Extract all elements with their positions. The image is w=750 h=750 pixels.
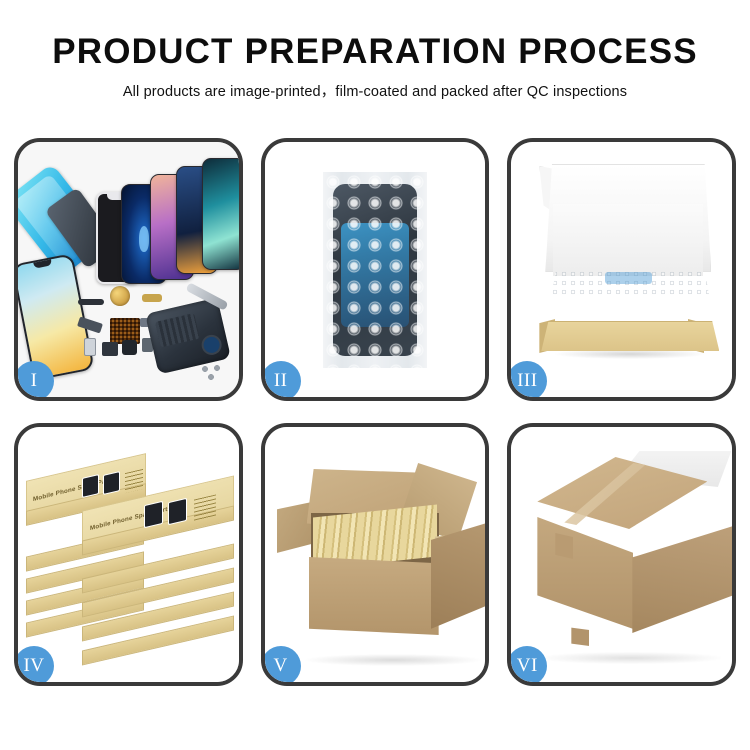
retail-box-screen-art-2 [103,471,120,495]
phone-internal-board [145,297,231,374]
step-panel-5[interactable]: V [261,423,490,686]
retail-box-spec-lines [125,469,143,493]
small-component-part-1 [84,338,96,356]
step-panel-6[interactable]: VI [507,423,736,686]
sealed-carton-front [537,517,633,629]
small-component-part-2 [102,342,118,356]
page-title: PRODUCT PREPARATION PROCESS [0,34,750,71]
retail-box-front-top: Mobile Phone Spare Parts [82,493,234,549]
retail-box-stack: Mobile Phone Spare Parts [24,443,239,643]
step-5-image [265,427,486,682]
step-panel-1[interactable]: I [14,138,243,401]
step-badge-4: IV [14,646,54,686]
step-panel-3[interactable]: III [507,138,736,401]
vibration-motor-part [110,286,130,306]
wrapped-product-in-box [551,270,709,296]
phone-screen-teal-wave [202,158,239,270]
flex-cable-part-2 [142,294,162,302]
step-1-image [18,142,239,397]
sealed-carton-side [632,525,732,633]
retail-box-screen-art-1 [144,501,163,528]
carton-front-face [309,557,439,635]
carton-side-face [431,523,486,629]
carton-corner-tab-bottom [571,626,589,646]
box-foam-sheet [553,204,703,276]
screws-group [201,365,227,381]
step-panel-4[interactable]: Mobile Phone Spare Parts [14,423,243,686]
step-panel-2[interactable]: II [261,138,490,401]
carton-corner-tab-top [555,533,573,559]
carton-shadow [541,652,721,664]
product-preparation-infographic: PRODUCT PREPARATION PROCESS All products… [0,0,750,750]
small-component-part-3 [122,340,137,355]
carton-shadow [305,654,481,666]
box-front-yellow [541,321,719,351]
step-badge-1: I [14,361,54,401]
step-badge-2: II [261,361,301,401]
step-3-image [511,142,732,397]
step-6-image [511,427,732,682]
step-4-image: Mobile Phone Spare Parts [18,427,239,682]
step-badge-5: V [261,646,301,686]
header: PRODUCT PREPARATION PROCESS All products… [0,0,750,101]
retail-box-screen-art-2 [168,498,187,525]
page-subtitle: All products are image-printed，film-coat… [0,80,750,101]
flex-cable-part-1 [78,299,104,305]
process-steps-grid: I II [14,138,736,686]
bubble-wrap-highlights [323,172,427,368]
step-2-image [265,142,486,397]
